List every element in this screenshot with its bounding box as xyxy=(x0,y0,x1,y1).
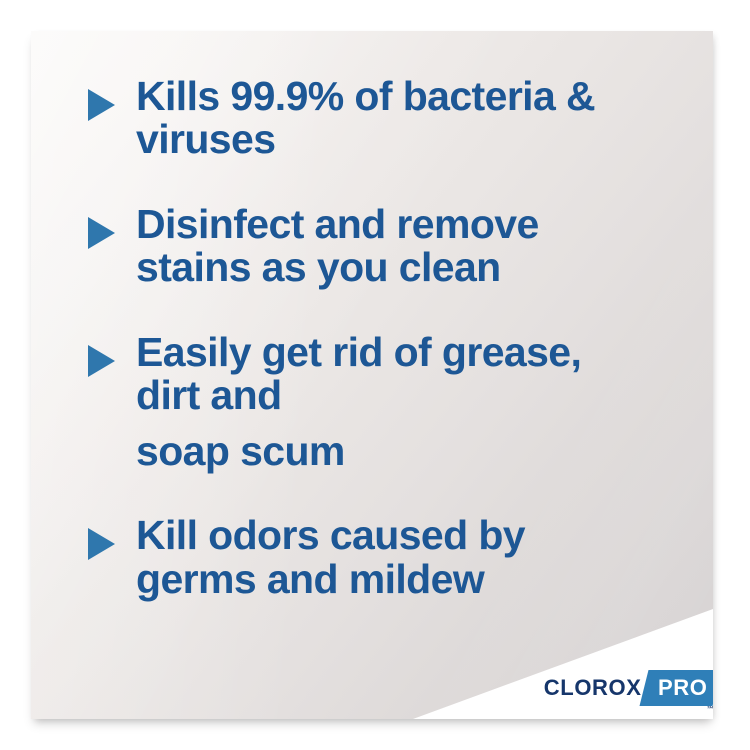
bullet-line: Kills 99.9% of bacteria & xyxy=(136,75,595,118)
bullet-line: germs and mildew xyxy=(136,558,525,601)
list-item: Disinfect and remove stains as you clean xyxy=(31,203,713,290)
triangle-bullet-icon xyxy=(88,528,115,560)
cloroxpro-logo: CLOROX PRO ™ xyxy=(544,670,713,706)
bullet-text: Kills 99.9% of bacteria & viruses xyxy=(136,75,595,162)
feature-bullet-list: Kills 99.9% of bacteria & viruses Disinf… xyxy=(31,31,713,642)
product-feature-image: Kills 99.9% of bacteria & viruses Disinf… xyxy=(0,0,750,750)
bullet-text: Easily get rid of grease, dirt and soap … xyxy=(136,331,581,474)
bullet-line: viruses xyxy=(136,118,595,161)
logo-brand-text: CLOROX xyxy=(544,670,644,706)
bullet-line: Kill odors caused by xyxy=(136,514,525,557)
bullet-line: Easily get rid of grease, xyxy=(136,331,581,374)
logo-pro-text: PRO xyxy=(658,670,707,706)
trademark-symbol: ™ xyxy=(705,706,713,713)
bullet-line: Disinfect and remove xyxy=(136,203,539,246)
list-item: Easily get rid of grease, dirt and soap … xyxy=(31,331,713,474)
triangle-bullet-icon xyxy=(88,89,115,121)
bullet-line: dirt and xyxy=(136,374,581,417)
bullet-text: Kill odors caused by germs and mildew xyxy=(136,514,525,601)
product-panel: Kills 99.9% of bacteria & viruses Disinf… xyxy=(31,31,713,719)
bullet-line: stains as you clean xyxy=(136,246,539,289)
triangle-bullet-icon xyxy=(88,217,115,249)
list-item: Kill odors caused by germs and mildew xyxy=(31,514,713,601)
logo-pro-badge: PRO ™ xyxy=(639,670,713,706)
bullet-text: Disinfect and remove stains as you clean xyxy=(136,203,539,290)
list-item: Kills 99.9% of bacteria & viruses xyxy=(31,75,713,162)
bullet-line: soap scum xyxy=(136,430,581,473)
triangle-bullet-icon xyxy=(88,345,115,377)
